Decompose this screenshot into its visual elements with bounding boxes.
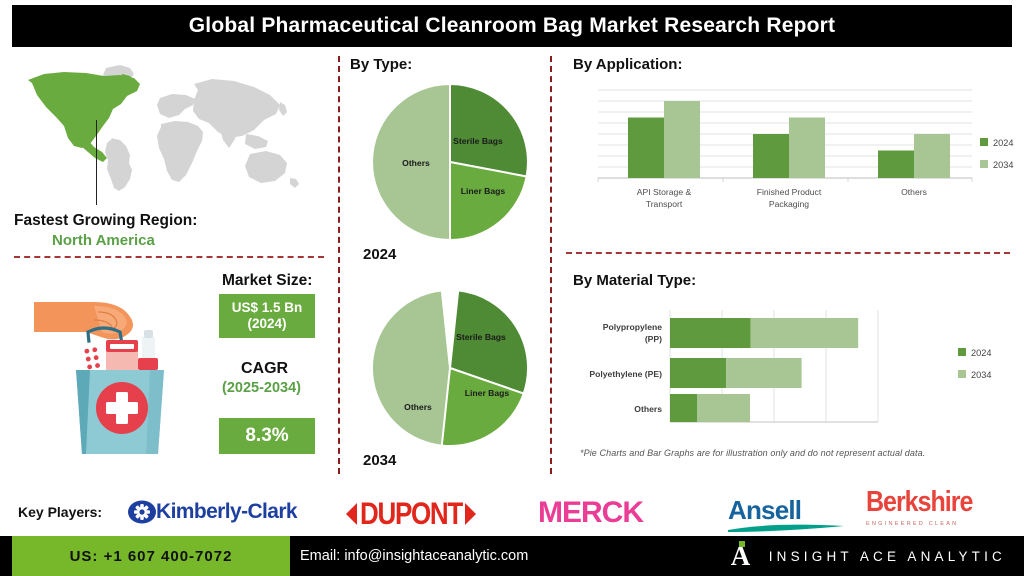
xtick-api-storage-line1: API Storage & <box>637 187 692 197</box>
bar-2024-others <box>878 151 914 179</box>
pie-chart-2024: Sterile Bags Liner Bags Others <box>370 82 530 242</box>
logo-ansell: Ansell <box>728 495 846 533</box>
cagr-value: 8.3% <box>245 425 288 447</box>
chart-footnote: *Pie Charts and Bar Graphs are for illus… <box>580 448 925 458</box>
legend-label-2034: 2034 <box>971 370 991 380</box>
brand-a-mark: A <box>731 542 755 570</box>
ansell-swoosh-icon <box>728 524 846 533</box>
merck-wordmark: MERCK <box>538 496 643 530</box>
pie-label-others: Others <box>404 402 432 412</box>
bar-2034-others <box>914 134 950 178</box>
ansell-wordmark: Ansell <box>728 495 801 526</box>
pie-year-2034: 2034 <box>363 452 396 469</box>
logo-kimberly-clark: Kimberly-Clark <box>128 498 297 526</box>
xtick-finished-product-line2: Packaging <box>769 199 809 209</box>
market-size-label: Market Size: <box>222 272 312 290</box>
fastest-growing-region-label: Fastest Growing Region: <box>14 212 197 230</box>
infographic-root: Global Pharmaceutical Cleanroom Bag Mark… <box>0 0 1024 576</box>
pie-label-liner-bags: Liner Bags <box>465 388 510 398</box>
xtick-finished-product-line1: Finished Product <box>757 187 822 197</box>
footer-phone[interactable]: US: +1 607 400-7072 <box>12 536 290 576</box>
bar-2034-polyethylene <box>726 358 801 388</box>
ytick-polypropylene-line2: (PP) <box>645 334 662 344</box>
brand-logo: A INSIGHT ACE ANALYTIC <box>731 536 1006 576</box>
section-title-by-application: By Application: <box>573 56 682 73</box>
ytick-polypropylene-line1: Polypropylene <box>603 322 662 332</box>
bar-2024-polypropylene <box>670 318 751 348</box>
logo-berkshire: Berkshire ENGINEERED CLEAN <box>866 488 972 527</box>
bar-2034-finished-product <box>789 118 825 179</box>
divider-vertical-right <box>550 56 552 474</box>
bar-2034-api-storage <box>664 101 700 178</box>
cagr-label: CAGR <box>241 360 288 378</box>
pie-label-liner-bags: Liner Bags <box>461 186 506 196</box>
ytick-others: Others <box>634 404 662 414</box>
dupont-left-arrow-icon <box>344 501 358 527</box>
divider-vertical-left <box>338 56 340 474</box>
legend-label-2024: 2024 <box>993 138 1013 148</box>
bar-2034-others <box>697 394 750 422</box>
xtick-others: Others <box>901 187 927 197</box>
berkshire-tagline: ENGINEERED CLEAN <box>866 521 958 527</box>
xtick-api-storage-line2: Transport <box>646 199 683 209</box>
bar-2024-polyethylene <box>670 358 726 388</box>
pie-chart-2034: Sterile Bags Liner Bags Others <box>370 288 530 448</box>
pie-label-sterile-bags: Sterile Bags <box>456 332 506 342</box>
fastest-growing-region-value: North America <box>52 232 155 249</box>
legend-swatch-2034 <box>980 160 988 168</box>
pie-label-others: Others <box>402 158 430 168</box>
logo-merck: MERCK <box>538 496 643 530</box>
page-title: Global Pharmaceutical Cleanroom Bag Mark… <box>189 14 835 38</box>
legend-label-2024: 2024 <box>971 348 991 358</box>
brand-name: INSIGHT ACE ANALYTIC <box>769 549 1006 564</box>
divider-horizontal-right <box>566 252 1010 254</box>
legend-swatch-2024 <box>958 348 966 356</box>
section-title-by-material: By Material Type: <box>573 272 696 289</box>
kimberly-clark-wordmark: Kimberly-Clark <box>156 500 297 524</box>
section-title-by-type: By Type: <box>350 56 412 73</box>
logo-dupont: DUPONT <box>344 498 478 529</box>
footer-email[interactable]: Email: info@insightaceanalytic.com <box>300 536 528 576</box>
bar-chart-by-material: Polypropylene (PP) Polyethylene (PE) Oth… <box>560 300 1020 445</box>
bar-2034-polypropylene <box>751 318 859 348</box>
bar-chart-by-application: API Storage & Transport Finished Product… <box>560 80 1020 220</box>
pie-label-sterile-bags: Sterile Bags <box>453 136 503 146</box>
ytick-polyethylene: Polyethylene (PE) <box>589 369 662 379</box>
dupont-wordmark: DUPONT <box>360 495 462 533</box>
market-size-value: US$ 1.5 Bn <box>232 300 303 316</box>
header-banner: Global Pharmaceutical Cleanroom Bag Mark… <box>12 5 1012 47</box>
legend-swatch-2024 <box>980 138 988 146</box>
bar-2024-finished-product <box>753 134 789 178</box>
market-size-box: US$ 1.5 Bn (2024) <box>219 294 315 338</box>
pharmacy-bag-illustration <box>32 288 207 468</box>
bar-2024-api-storage <box>628 118 664 179</box>
pie-year-2024: 2024 <box>363 246 396 263</box>
divider-horizontal-left <box>14 256 324 258</box>
berkshire-wordmark: Berkshire <box>866 486 972 519</box>
market-size-year: (2024) <box>247 316 286 332</box>
legend-swatch-2034 <box>958 370 966 378</box>
world-map <box>18 62 318 202</box>
cagr-box: 8.3% <box>219 418 315 454</box>
legend-label-2034: 2034 <box>993 160 1013 170</box>
key-players-label: Key Players: <box>18 504 102 520</box>
map-leader-line <box>96 120 97 205</box>
brand-letter: A <box>731 543 751 570</box>
bar-2024-others <box>670 394 697 422</box>
kimberly-clark-mark <box>128 498 156 526</box>
cagr-years: (2025-2034) <box>222 380 301 396</box>
dupont-right-arrow-icon <box>464 501 478 527</box>
